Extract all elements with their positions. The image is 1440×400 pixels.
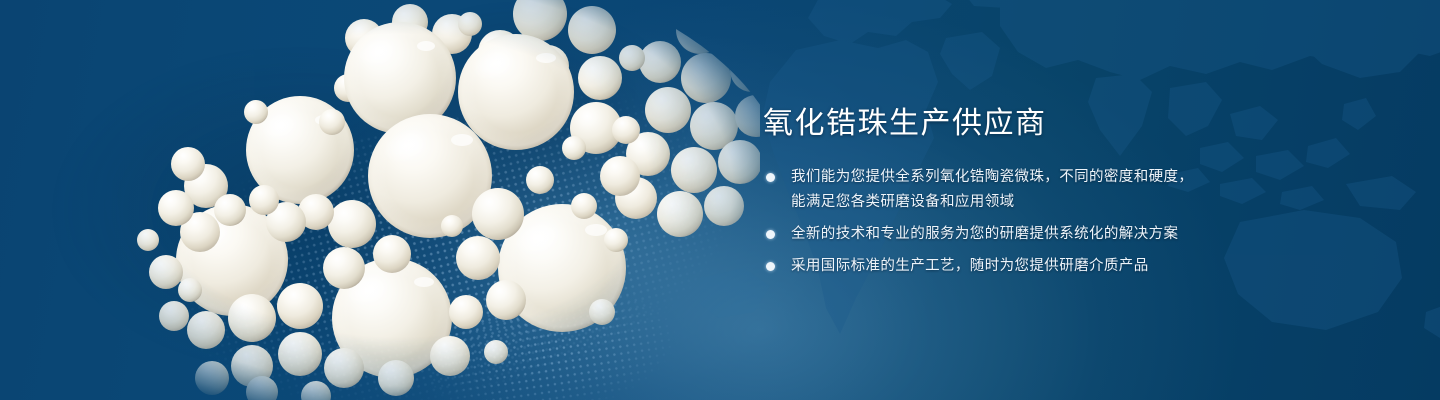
feature-list: 我们能为您提供全系列氧化锆陶瓷微珠，不同的密度和硬度， 能满足您各类研磨设备和应… <box>763 165 1233 278</box>
list-item: 采用国际标准的生产工艺，随时为您提供研磨介质产品 <box>763 254 1233 278</box>
list-item-line: 我们能为您提供全系列氧化锆陶瓷微珠，不同的密度和硬度， <box>791 165 1233 189</box>
bullet-dot-icon <box>766 173 775 182</box>
bullet-dot-icon <box>766 230 775 239</box>
list-item-line: 全新的技术和专业的服务为您的研磨提供系统化的解决方案 <box>791 222 1233 246</box>
hero-banner: 氧化锆珠生产供应商 我们能为您提供全系列氧化锆陶瓷微珠，不同的密度和硬度， 能满… <box>0 0 1440 400</box>
list-item-line: 采用国际标准的生产工艺，随时为您提供研磨介质产品 <box>791 254 1233 278</box>
bullet-dot-icon <box>766 262 775 271</box>
list-item: 我们能为您提供全系列氧化锆陶瓷微珠，不同的密度和硬度， 能满足您各类研磨设备和应… <box>763 165 1233 214</box>
list-item-line: 能满足您各类研磨设备和应用领域 <box>791 190 1233 214</box>
page-title: 氧化锆珠生产供应商 <box>763 104 1233 144</box>
list-item: 全新的技术和专业的服务为您的研磨提供系统化的解决方案 <box>763 222 1233 246</box>
banner-copy: 氧化锆珠生产供应商 我们能为您提供全系列氧化锆陶瓷微珠，不同的密度和硬度， 能满… <box>763 104 1233 278</box>
